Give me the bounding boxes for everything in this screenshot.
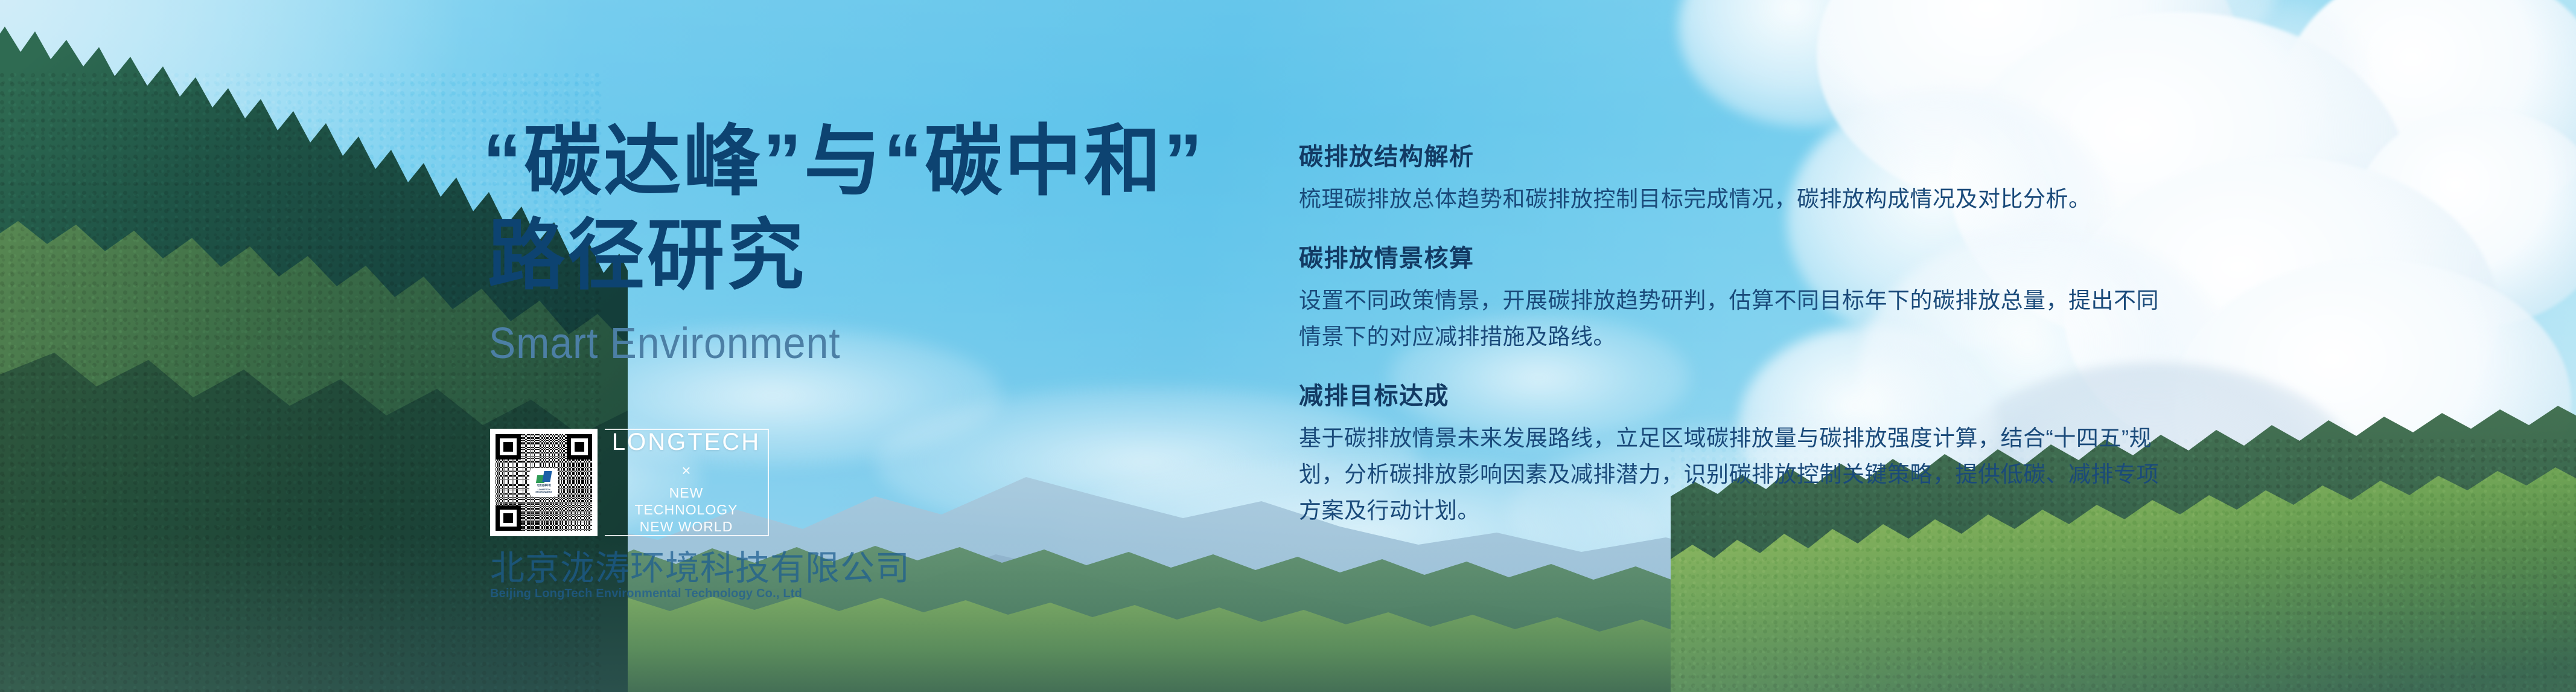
qr-finder-pattern-icon bbox=[496, 505, 521, 531]
logo-badge-name-en: LONGTECH ENVIRONMENT bbox=[531, 489, 557, 494]
page-title-line-2: 路径研究 bbox=[488, 209, 1237, 303]
brand-slogan: NEW TECHNOLOGY NEW WORLD bbox=[634, 484, 738, 535]
qr-finder-pattern-icon bbox=[567, 434, 592, 460]
qr-code-card[interactable]: 北京泷涛环境 LONGTECH ENVIRONMENT bbox=[490, 429, 598, 536]
brand-slogan-line-3: NEW WORLD bbox=[634, 518, 738, 535]
qr-code-matrix[interactable]: 北京泷涛环境 LONGTECH ENVIRONMENT bbox=[496, 434, 592, 531]
section-body: 基于碳排放情景未来发展路线，立足区域碳排放量与碳排放强度计算，结合“十四五”规划… bbox=[1299, 420, 2162, 529]
qr-finder-pattern-icon bbox=[496, 434, 521, 460]
qr-brand-block: 北京泷涛环境 LONGTECH ENVIRONMENT LONGTECH × N… bbox=[490, 429, 769, 536]
hero-banner: “碳达峰”与“碳中和” 路径研究 Smart Environment 北京泷涛环… bbox=[0, 0, 2576, 692]
company-name-en: Beijing LongTech Environmental Technolog… bbox=[490, 587, 768, 601]
content-section: 碳排放情景核算 设置不同政策情景，开展碳排放趋势研判，估算不同目标年下的碳排放总… bbox=[1299, 244, 2162, 355]
section-title: 减排目标达成 bbox=[1299, 382, 2162, 411]
brand-slogan-line-1: NEW bbox=[634, 484, 738, 501]
section-title: 碳排放结构解析 bbox=[1299, 143, 2162, 171]
page-subtitle: Smart Environment bbox=[489, 319, 1178, 368]
company-name-cn: 北京泷涛环境科技有限公司 bbox=[490, 551, 768, 586]
brand-name: LONGTECH bbox=[612, 430, 760, 454]
brand-slogan-box: LONGTECH × NEW TECHNOLOGY NEW WORLD bbox=[605, 429, 769, 536]
page-title-line-1: “碳达峰”与“碳中和” bbox=[483, 115, 1237, 209]
longtech-logo-icon bbox=[537, 471, 551, 483]
brand-cross-icon: × bbox=[681, 463, 690, 478]
logo-badge-name-cn: 北京泷涛环境 bbox=[537, 484, 551, 487]
section-body: 设置不同政策情景，开展碳排放趋势研判，估算不同目标年下的碳排放总量，提出不同情景… bbox=[1299, 283, 2162, 355]
brand-slogan-line-2: TECHNOLOGY bbox=[634, 501, 738, 518]
section-body: 梳理碳排放总体趋势和碳排放控制目标完成情况，碳排放构成情况及对比分析。 bbox=[1299, 181, 2162, 217]
company-logo-badge: 北京泷涛环境 LONGTECH ENVIRONMENT bbox=[531, 469, 557, 496]
hero-title-block: “碳达峰”与“碳中和” 路径研究 Smart Environment bbox=[483, 115, 1237, 368]
content-section: 碳排放结构解析 梳理碳排放总体趋势和碳排放控制目标完成情况，碳排放构成情况及对比… bbox=[1299, 143, 2162, 217]
content-panel: 碳排放结构解析 梳理碳排放总体趋势和碳排放控制目标完成情况，碳排放构成情况及对比… bbox=[1299, 143, 2162, 529]
content-section: 减排目标达成 基于碳排放情景未来发展路线，立足区域碳排放量与碳排放强度计算，结合… bbox=[1299, 382, 2162, 529]
section-title: 碳排放情景核算 bbox=[1299, 244, 2162, 273]
company-name-block: 北京泷涛环境科技有限公司 Beijing LongTech Environmen… bbox=[490, 551, 768, 601]
